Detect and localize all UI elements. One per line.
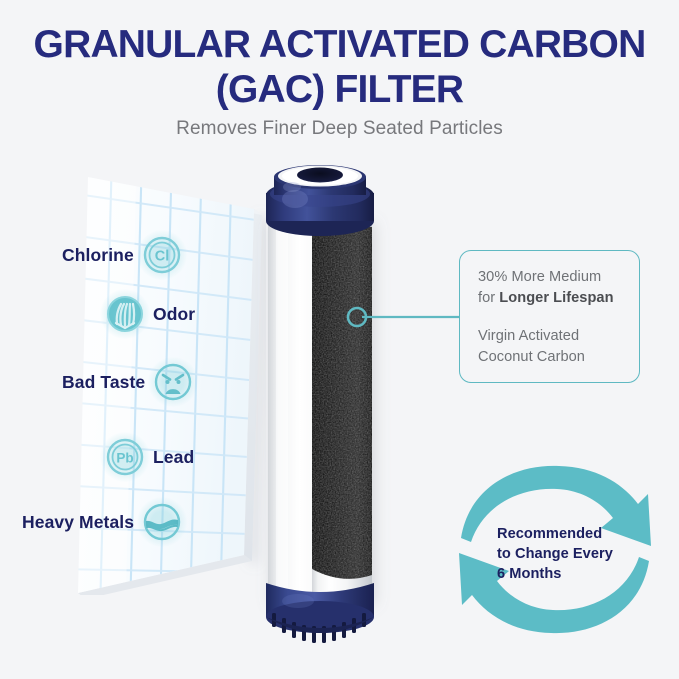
- contaminant-row-lead: Pb Lead: [104, 436, 194, 478]
- contaminant-row-heavy-metals: Heavy Metals: [22, 501, 183, 543]
- product-infographic: GRANULAR ACTIVATED CARBON (GAC) FILTER R…: [0, 0, 679, 679]
- callout-line-2-bold: Longer Lifespan: [499, 290, 613, 306]
- contaminant-label: Bad Taste: [62, 372, 145, 393]
- callout-line-1: 30% More Medium: [478, 269, 601, 285]
- lead-pb-icon: Pb: [104, 436, 146, 478]
- contaminant-row-bad-taste: Bad Taste: [62, 361, 194, 403]
- icon-glow: [100, 432, 150, 482]
- cycle-line-3: 6 Months: [497, 564, 627, 584]
- page-title: GRANULAR ACTIVATED CARBON (GAC) FILTER: [0, 22, 679, 112]
- callout-connector-line: [340, 296, 470, 338]
- filter-cartridge-image: [250, 165, 420, 650]
- odor-vapor-icon: [104, 293, 146, 335]
- contaminant-label: Chlorine: [62, 245, 134, 266]
- cycle-line-2: to Change Every: [497, 544, 627, 564]
- icon-glow: [137, 497, 187, 547]
- title-line-2: (GAC) FILTER: [0, 67, 679, 112]
- contaminant-row-odor: Odor: [104, 293, 195, 335]
- cycle-line-1: Recommended: [497, 524, 627, 544]
- feature-callout-box: 30% More Medium for Longer Lifespan Virg…: [459, 250, 640, 383]
- callout-line-4: Coconut Carbon: [478, 349, 585, 365]
- contaminant-label: Heavy Metals: [22, 512, 134, 533]
- contaminant-label: Odor: [153, 304, 195, 325]
- callout-paragraph-2: Virgin Activated Coconut Carbon: [478, 326, 639, 368]
- contaminant-label: Lead: [153, 447, 194, 468]
- heavy-metals-icon: [141, 501, 183, 543]
- title-line-1: GRANULAR ACTIVATED CARBON: [0, 22, 679, 67]
- angry-face-icon: [152, 361, 194, 403]
- chlorine-cl-icon: Cl: [141, 234, 183, 276]
- page-subtitle: Removes Finer Deep Seated Particles: [0, 118, 679, 140]
- callout-paragraph-1: 30% More Medium for Longer Lifespan: [478, 267, 639, 309]
- icon-glow: [100, 289, 150, 339]
- contaminant-row-chlorine: Chlorine Cl: [62, 234, 183, 276]
- callout-line-2-prefix: for: [478, 290, 499, 306]
- callout-line-3: Virgin Activated: [478, 328, 579, 344]
- icon-glow: [137, 230, 187, 280]
- icon-glow: [148, 357, 198, 407]
- cycle-caption: Recommended to Change Every 6 Months: [497, 524, 627, 584]
